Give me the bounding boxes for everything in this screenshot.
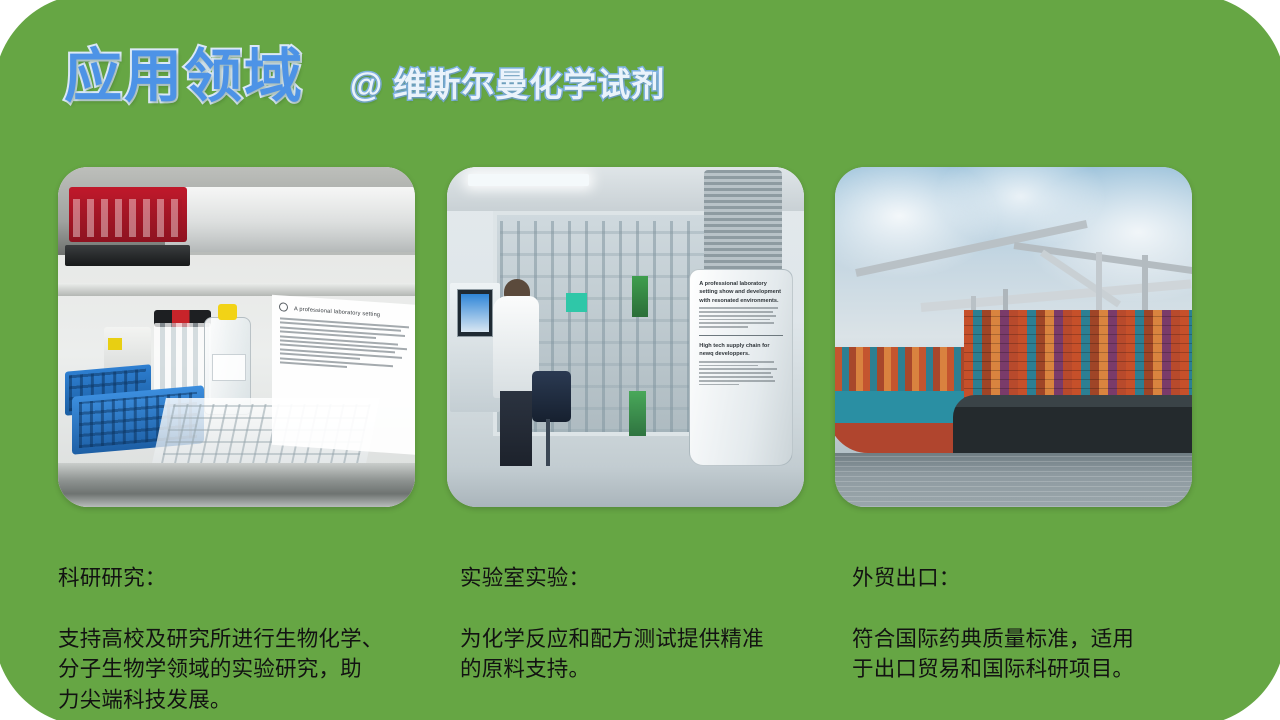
slide-root: 应用领域 @ 维斯尔曼化学试剂 (0, 0, 1280, 720)
background-ship-icon (835, 391, 971, 452)
brand-subtitle: @ 维斯尔曼化学试剂 (350, 68, 665, 101)
image-card-laboratory[interactable]: A professional laboratory setting show a… (447, 167, 804, 507)
reactor-vessel-overlay: A professional laboratory setting show a… (689, 269, 793, 466)
caption-laboratory: 实验室实验： 为化学反应和配方测试提供精准 的原料支持。 (460, 532, 852, 720)
shipping-port-photo (835, 167, 1192, 507)
caption-research-heading: 科研研究： (58, 563, 460, 594)
caption-export-body: 符合国际药典质量标准，适用 于出口贸易和国际科研项目。 (852, 624, 1208, 685)
placard-heading: A professional laboratory setting (294, 306, 414, 320)
image-card-row: A professional laboratory setting (58, 167, 1192, 507)
research-lab-photo: A professional laboratory setting (58, 167, 415, 507)
slide-header: 应用领域 @ 维斯尔曼化学试剂 (0, 48, 1280, 134)
shipping-containers-icon (964, 310, 1192, 398)
caption-research: 科研研究： 支持高校及研究所进行生物化学、 分子生物学领域的实验研究，助 力尖端… (58, 532, 460, 720)
red-rack-icon (69, 187, 187, 241)
office-chair-icon (532, 371, 571, 422)
page-title: 应用领域 (64, 48, 304, 106)
vessel-text-lines-top (699, 307, 783, 328)
computer-monitor-icon (457, 289, 493, 337)
image-card-export[interactable] (835, 167, 1192, 507)
image-card-research[interactable]: A professional laboratory setting (58, 167, 415, 507)
vessel-heading: A professional laboratory setting show a… (699, 280, 783, 305)
caption-laboratory-heading: 实验室实验： (460, 563, 852, 594)
caption-laboratory-body: 为化学反应和配方测试提供精准 的原料支持。 (460, 624, 852, 685)
caption-export-heading: 外贸出口： (852, 563, 1208, 594)
placard-badge-icon (279, 302, 288, 312)
caption-row: 科研研究： 支持高校及研究所进行生物化学、 分子生物学领域的实验研究，助 力尖端… (58, 532, 1208, 720)
vessel-text-lines-bottom (699, 361, 783, 386)
pilot-plant-photo: A professional laboratory setting show a… (447, 167, 804, 507)
photo-overlay-placard: A professional laboratory setting (272, 294, 415, 454)
ceiling-lamp-icon (468, 174, 589, 186)
caption-research-body: 支持高校及研究所进行生物化学、 分子生物学领域的实验研究，助 力尖端科技发展。 (58, 624, 460, 716)
vessel-subheading: High tech supply chain for newq developp… (699, 342, 783, 359)
placard-text-lines (280, 317, 414, 372)
water-surface (835, 453, 1192, 507)
caption-export: 外贸出口： 符合国际药典质量标准，适用 于出口贸易和国际科研项目。 (852, 532, 1208, 720)
